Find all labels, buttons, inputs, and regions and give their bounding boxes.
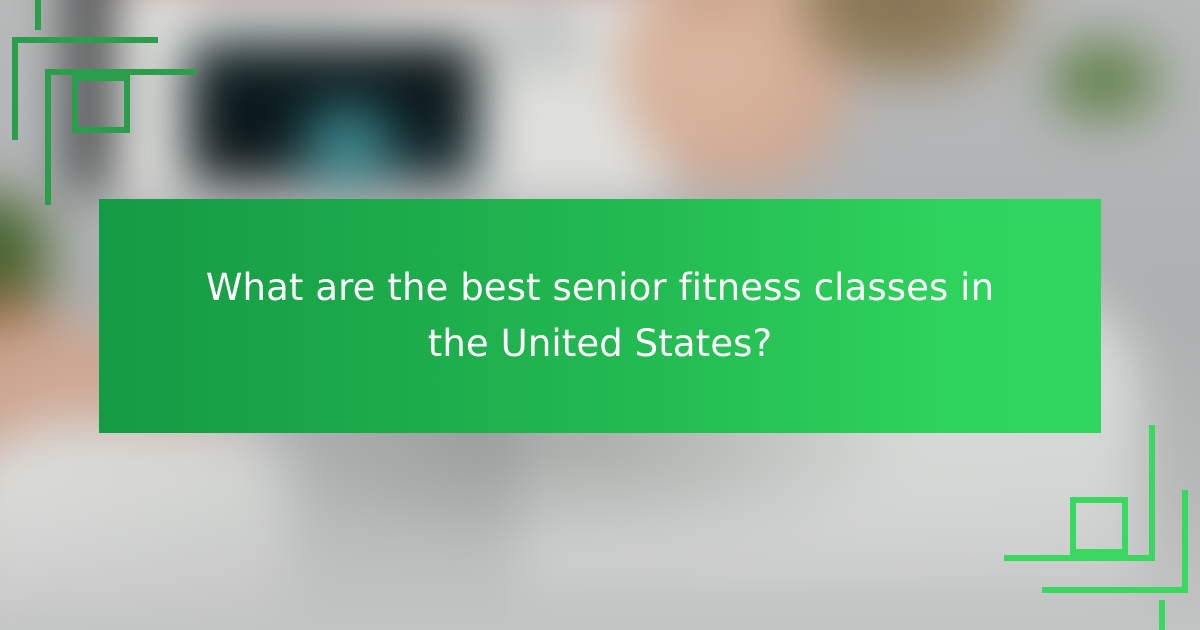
title-banner: What are the best senior fitness classes… [99,199,1101,433]
bottom-light-wash [0,500,1200,630]
monitor-bezel [70,0,110,190]
background-foliage-right [1050,40,1160,120]
monitor-video-subject [298,102,398,192]
monitor-text-line [198,6,348,15]
monitor-side-panel [500,0,580,70]
page-title: What are the best senior fitness classes… [205,260,995,372]
share-card-canvas: What are the best senior fitness classes… [0,0,1200,630]
